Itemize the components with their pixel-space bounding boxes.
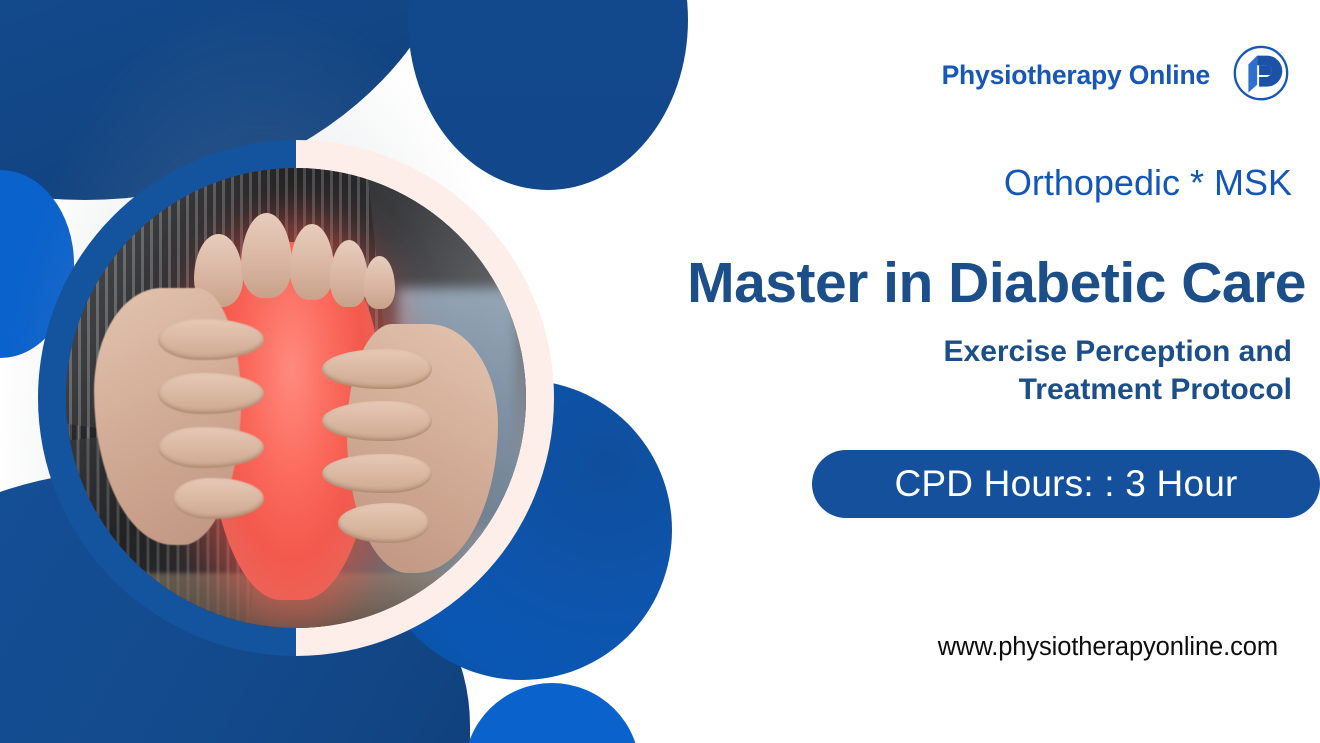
subtitle-line-2: Treatment Protocol [652, 371, 1292, 409]
promotional-banner: Physiotherapy Online Orthopedic * MSK Ma… [0, 0, 1320, 743]
brand-logo: Physiotherapy Online [942, 44, 1292, 106]
brand-logo-text: Physiotherapy Online [942, 60, 1210, 91]
cpd-hours-badge: CPD Hours: : 3 Hour [812, 450, 1320, 518]
eyebrow-text: Orthopedic * MSK [1004, 162, 1292, 204]
content-column: Physiotherapy Online Orthopedic * MSK Ma… [600, 0, 1320, 743]
page-title: Master in Diabetic Care [687, 250, 1306, 316]
website-url: www.physiotherapyonline.com [938, 633, 1278, 662]
photo-toes [190, 209, 402, 310]
diabetic-foot-photo [66, 168, 526, 628]
subtitle: Exercise Perception and Treatment Protoc… [652, 333, 1292, 410]
cpd-hours-label: CPD Hours: : 3 Hour [894, 463, 1237, 505]
hero-photo-assembly [38, 140, 554, 656]
circular-p-monogram-icon [1230, 44, 1292, 106]
subtitle-line-1: Exercise Perception and [652, 333, 1292, 371]
